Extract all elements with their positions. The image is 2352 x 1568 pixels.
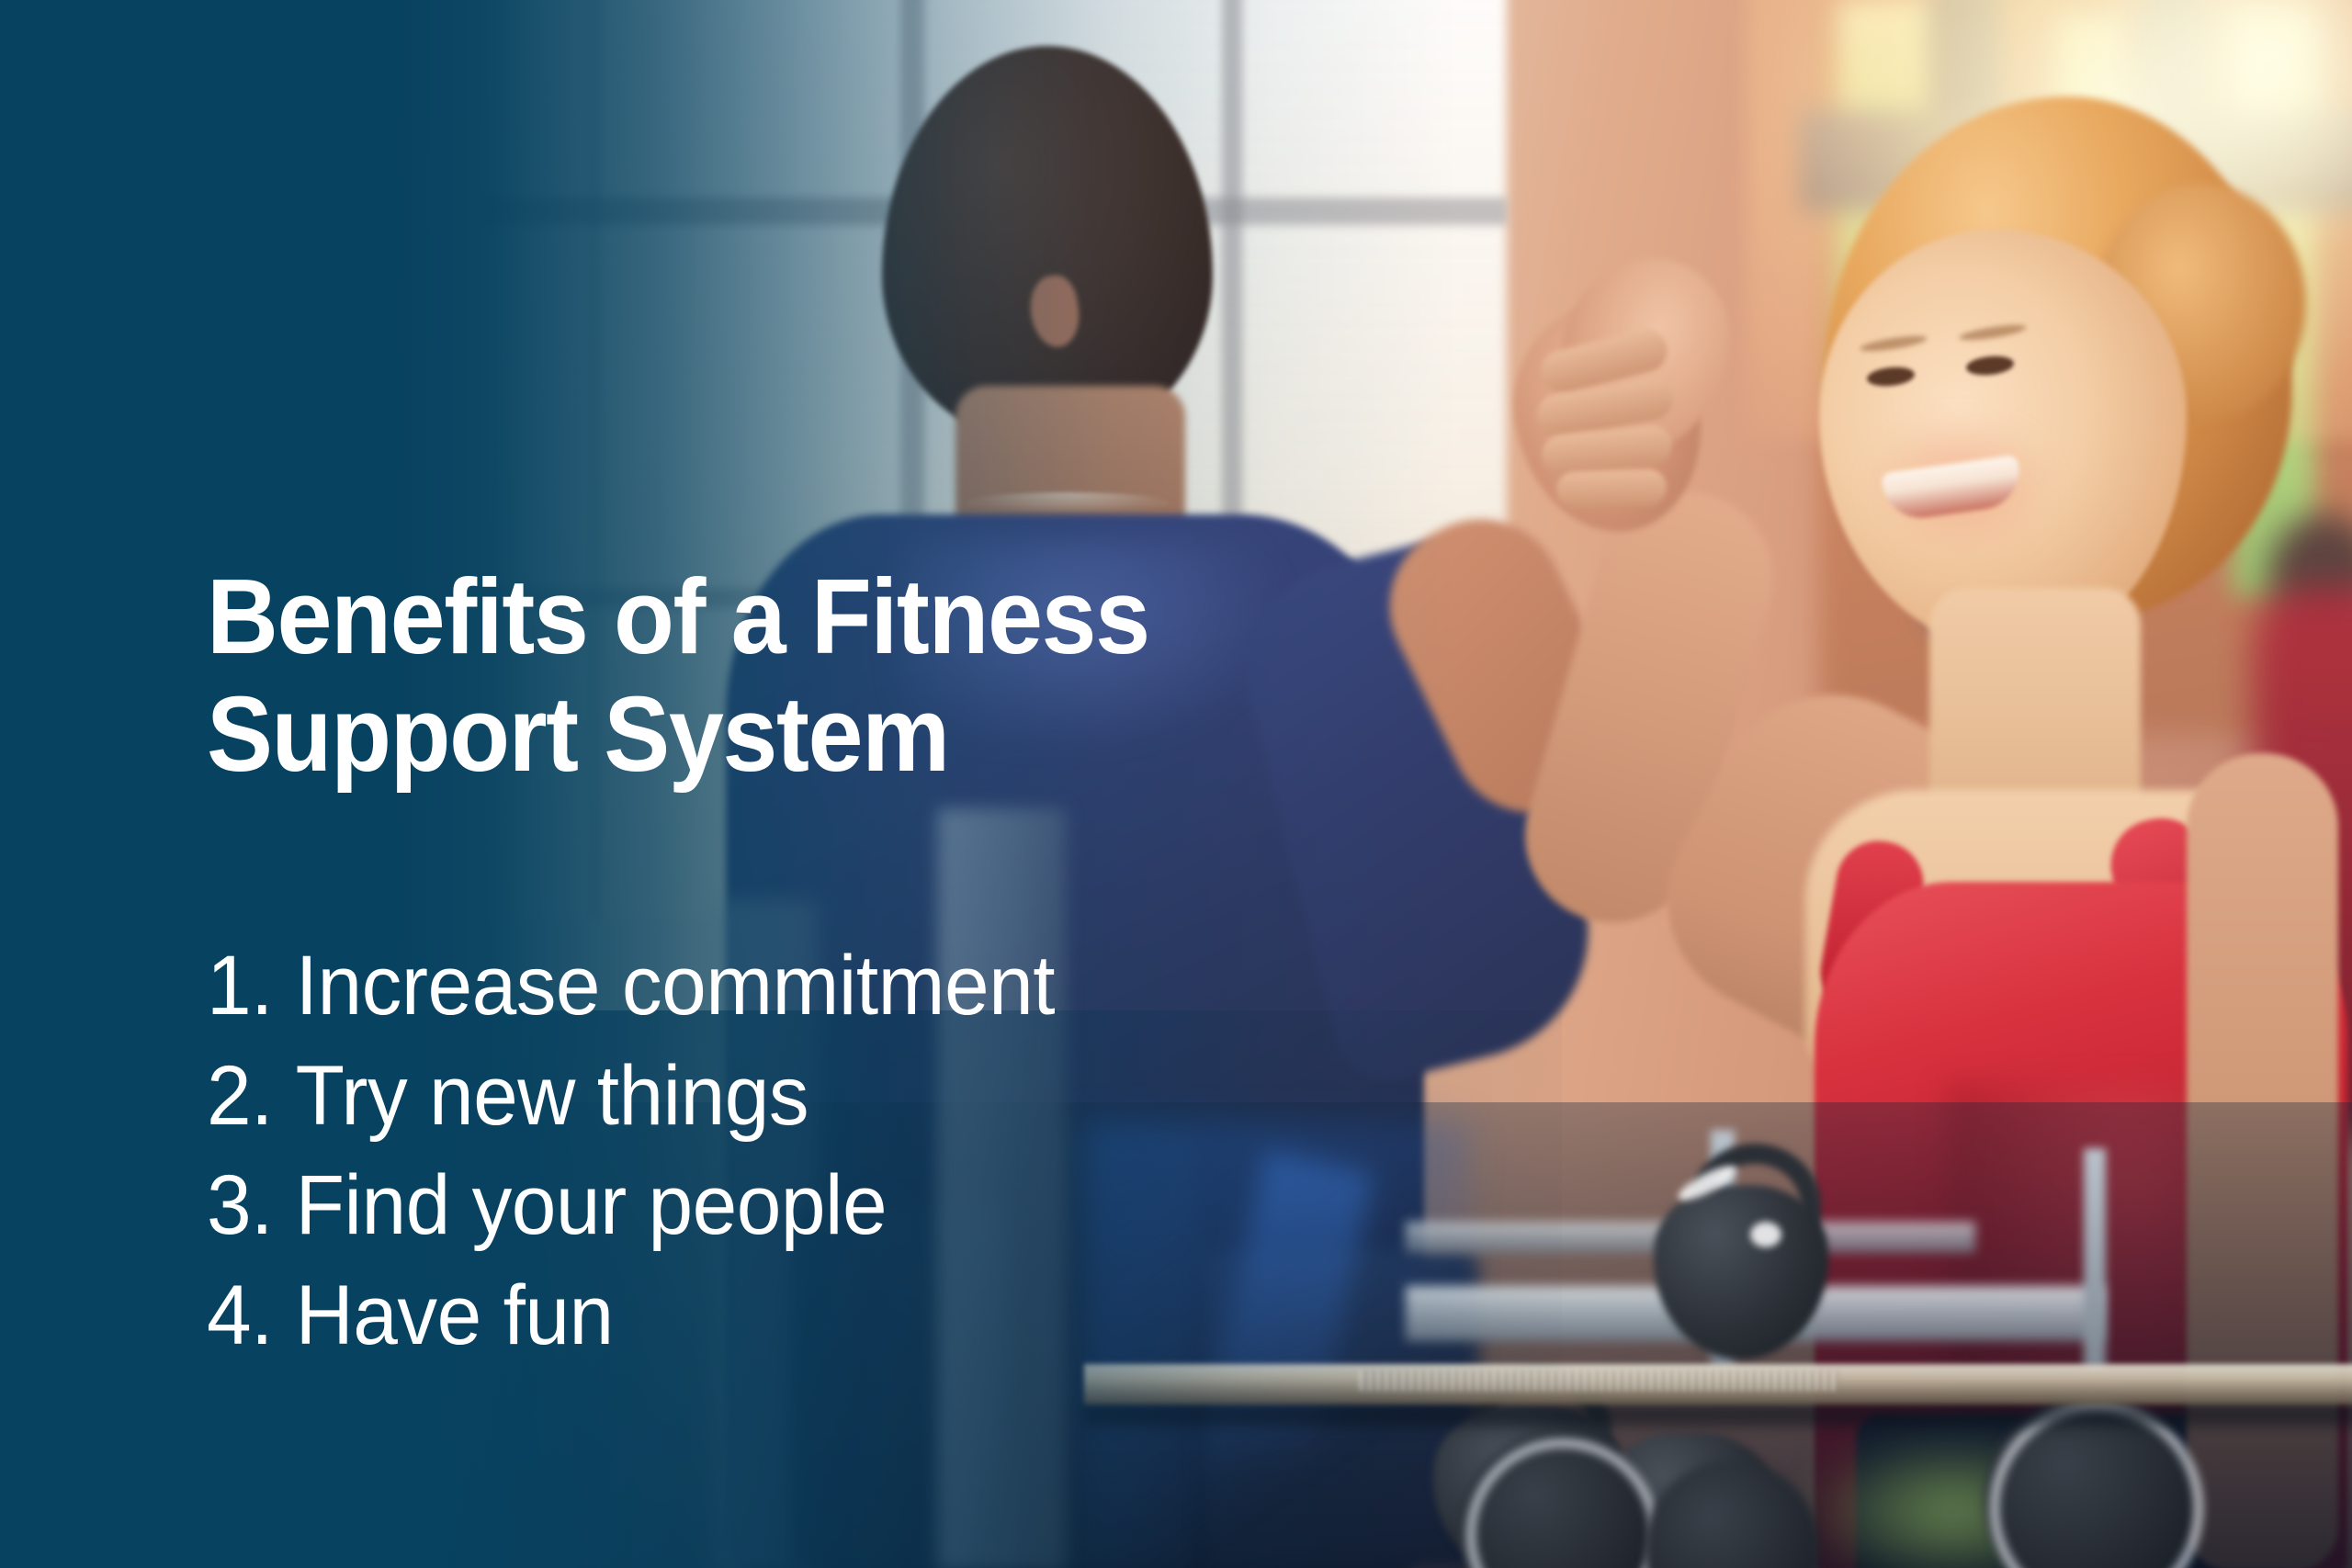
list-item-number: 2. — [207, 1049, 273, 1143]
list-item-label: Increase commitment — [296, 939, 1055, 1032]
list-item: 1.Increase commitment — [207, 931, 1055, 1042]
list-item-label: Try new things — [296, 1049, 808, 1143]
list-item-number: 1. — [207, 939, 273, 1032]
list-item: 4.Have fun — [207, 1261, 1055, 1371]
promo-slide: Benefits of a Fitness Support System 1.I… — [0, 0, 2352, 1568]
slide-content: Benefits of a Fitness Support System 1.I… — [207, 0, 1769, 1568]
list-item-label: Find your people — [296, 1158, 887, 1252]
list-item-label: Have fun — [296, 1269, 614, 1362]
list-item-number: 4. — [207, 1269, 273, 1362]
list-item: 2.Try new things — [207, 1042, 1055, 1152]
benefits-list: 1.Increase commitment 2.Try new things 3… — [207, 931, 1100, 1371]
page-title: Benefits of a Fitness Support System — [207, 558, 1149, 793]
list-item: 3.Find your people — [207, 1151, 1055, 1261]
list-item-number: 3. — [207, 1158, 273, 1252]
